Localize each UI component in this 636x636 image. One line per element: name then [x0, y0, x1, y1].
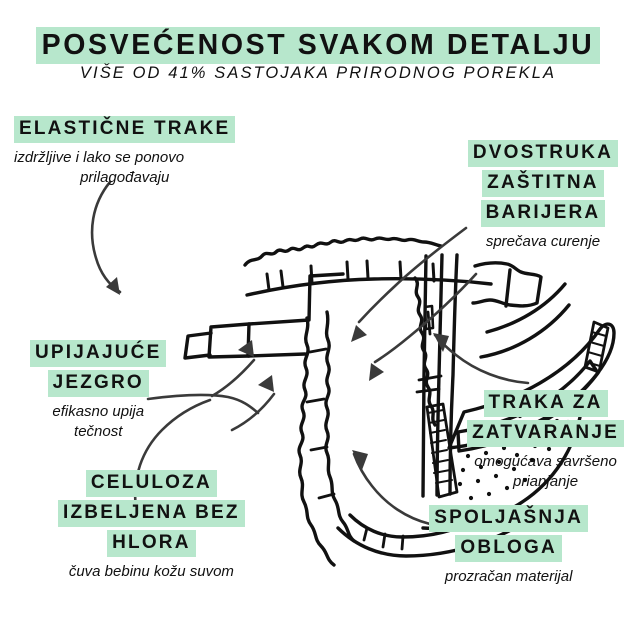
barrier-strip-right — [450, 255, 457, 494]
callout-cover-heading-line-1: OBLOGA — [429, 535, 588, 562]
page-title: POSVEĆENOST SVAKOM DETALJU — [36, 27, 601, 64]
callout-core-desc-1: tečnost — [30, 422, 166, 442]
callout-core-heading-1: JEZGRO — [48, 370, 149, 397]
connector-barrier-b — [375, 274, 476, 362]
callout-core-heading-line-0: UPIJAJUĆE — [30, 340, 166, 367]
callout-core-desc-0: efikasno upija — [30, 402, 166, 422]
connector-core-arrow-2-head — [258, 375, 274, 392]
callout-cellulose-heading-1: IZBELJENA BEZ — [58, 500, 245, 527]
callout-cover-desc-0: prozračan materijal — [429, 567, 588, 587]
waistband-lower-line — [247, 279, 491, 295]
callout-core[interactable]: UPIJAJUĆE JEZGRO efikasno upija tečnost — [30, 340, 166, 441]
connector-elastic-arrowhead — [106, 277, 120, 295]
callout-cover[interactable]: SPOLJAŠNJA OBLOGA prozračan materijal — [429, 505, 588, 587]
callout-barrier-heading-2: BARIJERA — [481, 200, 606, 227]
callout-tape-desc-0: omogućava savršeno — [467, 452, 624, 472]
callout-cellulose-heading-line-1: IZBELJENA BEZ — [58, 500, 245, 527]
barrier-rect-detail — [425, 306, 433, 329]
callout-barrier-heading-1: ZAŠTITNA — [482, 170, 604, 197]
callout-elastic-desc-0: izdržljive i lako se ponovo — [14, 148, 235, 168]
callout-core-heading-line-1: JEZGRO — [30, 370, 166, 397]
callout-barrier[interactable]: DVOSTRUKA ZAŠTITNA BARIJERA sprečava cur… — [468, 140, 618, 252]
connector-barrier-b-arrowhead — [369, 363, 384, 381]
connector-barrier-a-arrowhead — [351, 325, 367, 342]
barrier-ticks — [417, 312, 441, 392]
callout-barrier-description: sprečava curenje — [468, 232, 618, 252]
callout-core-description: efikasno upija tečnost — [30, 402, 166, 442]
callout-cover-heading-line-0: SPOLJAŠNJA — [429, 505, 588, 532]
callout-cover-heading-0: SPOLJAŠNJA — [429, 505, 588, 532]
tape-hatch-lines-right — [586, 332, 606, 366]
connector-tape-arrowhead — [433, 333, 449, 352]
elastic-tab-outer — [248, 274, 343, 356]
tape-hatch-lines — [428, 410, 452, 483]
callout-tape-heading-1: ZATVARANJE — [467, 420, 624, 447]
connector-cover — [354, 454, 430, 524]
tape-hatched-edge — [427, 404, 457, 497]
callout-cellulose-heading-0: CELULOZA — [86, 470, 217, 497]
callout-tape-heading-line-0: TRAKA ZA — [467, 390, 624, 417]
barrier-strip-left-a — [423, 256, 426, 496]
elastic-tab-inner — [209, 324, 249, 357]
page-title-wrap: POSVEĆENOST SVAKOM DETALJU — [0, 26, 636, 64]
callout-tape-heading-0: TRAKA ZA — [484, 390, 608, 417]
callout-elastic-desc-1: prilagođavaju — [14, 168, 235, 188]
callout-barrier-heading-line-2: BARIJERA — [468, 200, 618, 227]
connector-barrier-a — [359, 228, 466, 322]
connector-tape — [435, 335, 528, 383]
callout-tape-desc-1: prianjanje — [467, 472, 624, 492]
bottom-hem-ticks — [364, 528, 403, 549]
callout-cellulose-desc-0: čuva bebinu kožu suvom — [58, 562, 245, 582]
page-subtitle-wrap: VIŠE OD 41% SASTOJAKA PRIRODNOG POREKLA — [0, 64, 636, 83]
page-subtitle: VIŠE OD 41% SASTOJAKA PRIRODNOG POREKLA — [80, 64, 556, 82]
callout-tape-heading-line-1: ZATVARANJE — [467, 420, 624, 447]
callout-core-heading-0: UPIJAJUĆE — [30, 340, 166, 367]
upper-right-flap-fold — [506, 270, 510, 306]
callout-cellulose-heading-line-2: HLORA — [58, 530, 245, 557]
callout-barrier-desc-0: sprečava curenje — [468, 232, 618, 252]
cover-curve-a — [487, 284, 565, 332]
connector-cover-arrowhead — [352, 450, 368, 470]
waistband-wavy-edge — [245, 238, 441, 265]
callout-barrier-heading-line-0: DVOSTRUKA — [468, 140, 618, 167]
callout-elastic-heading-line: ELASTIČNE TRAKE — [14, 116, 235, 143]
elastic-tab-tip — [185, 333, 211, 358]
callout-tape-description: omogućava savršeno prianjanje — [467, 452, 624, 492]
callout-cover-heading-1: OBLOGA — [455, 535, 562, 562]
callout-elastic-heading-0: ELASTIČNE TRAKE — [14, 116, 235, 143]
core-fold-ticks — [307, 349, 334, 498]
barrier-strip-left-b — [437, 255, 442, 495]
connector-core-arrow-1-head — [238, 340, 254, 357]
callout-cellulose-heading-line-0: CELULOZA — [58, 470, 245, 497]
callout-elastic[interactable]: ELASTIČNE TRAKE izdržljive i lako se pon… — [14, 116, 235, 188]
callout-elastic-description: izdržljive i lako se ponovo prilagođavaj… — [14, 148, 235, 188]
tape-hatched-edge-right — [585, 322, 608, 372]
callout-tape[interactable]: TRAKA ZA ZATVARANJE omogućava savršeno p… — [467, 390, 624, 491]
infographic-root: POSVEĆENOST SVAKOM DETALJU VIŠE OD 41% S… — [0, 0, 636, 636]
cover-curve-b — [481, 305, 569, 357]
callout-cellulose-description: čuva bebinu kožu suvom — [58, 562, 245, 582]
waistband-ticks — [267, 261, 434, 290]
connector-core-arrow-1 — [212, 360, 254, 396]
callout-cover-description: prozračan materijal — [429, 567, 588, 587]
connector-core-arrow-2 — [232, 394, 274, 430]
callout-cellulose[interactable]: CELULOZA IZBELJENA BEZ HLORA čuva bebinu… — [58, 470, 245, 582]
connector-elastic — [92, 182, 120, 292]
callout-barrier-heading-line-1: ZAŠTITNA — [468, 170, 618, 197]
left-body-wavy-edge — [299, 318, 334, 565]
callout-cellulose-heading-2: HLORA — [107, 530, 196, 557]
left-body-wavy-edge-2 — [326, 312, 354, 541]
upper-right-flap — [473, 263, 541, 306]
callout-barrier-heading-0: DVOSTRUKA — [468, 140, 618, 167]
barrier-wavy-overlay — [415, 278, 435, 425]
